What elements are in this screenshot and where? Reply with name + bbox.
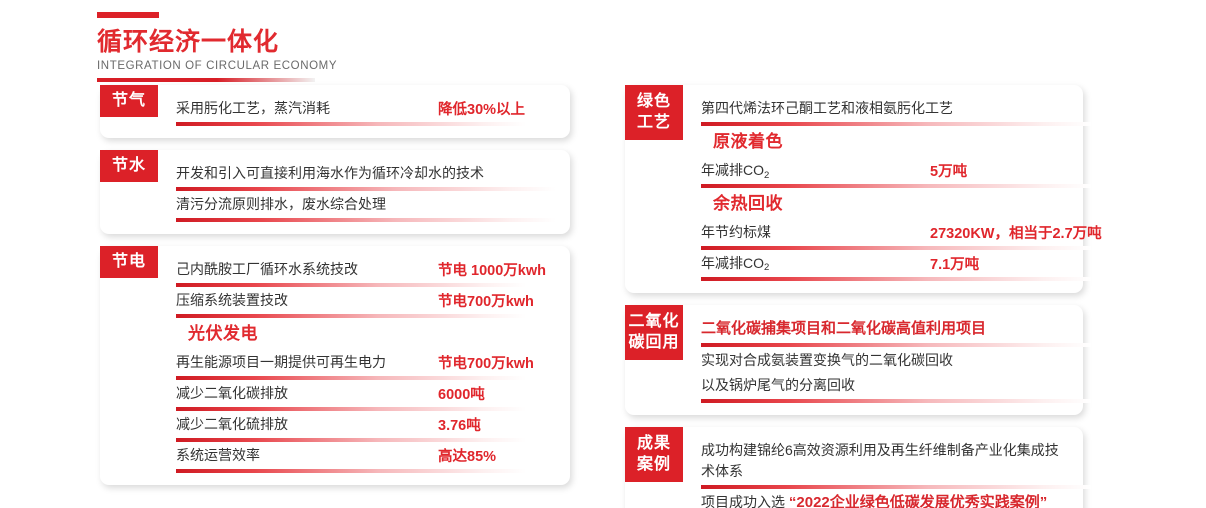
row-label: 压缩系统装置技改: [176, 290, 288, 311]
table-row: 开发和引入可直接利用海水作为循环冷却水的技术: [176, 160, 554, 191]
badge-label-co2-reuse: 二氧化 碳回用: [625, 305, 683, 360]
table-row: 己内酰胺工厂循环水系统技改 节电 1000万kwh: [176, 256, 554, 287]
header-accent-bar-top: [97, 12, 159, 18]
page-title: 循环经济一体化: [97, 27, 497, 58]
card-co2-reuse: 二氧化 碳回用 二氧化碳捕集项目和二氧化碳高值利用项目 实现对合成氨装置变换气的…: [625, 305, 1083, 415]
table-row: 第四代烯法环己酮工艺和液相氨肟化工艺: [701, 95, 1067, 126]
row-value: 节电 1000万kwh: [424, 259, 546, 280]
card-green-process: 绿色 工艺 第四代烯法环己酮工艺和液相氨肟化工艺 原液着色 年减排CO2 5万吨…: [625, 85, 1083, 293]
row-underline: [176, 469, 526, 473]
table-row: 年节约标煤 27320KW，相当于2.7万吨: [701, 219, 1067, 250]
row-value: 3.76吨: [424, 414, 481, 435]
row-label: 开发和引入可直接利用海水作为循环冷却水的技术: [176, 163, 484, 184]
table-row: 压缩系统装置技改 节电700万kwh: [176, 287, 554, 318]
row-label: 成功构建锦纶6高效资源利用及再生纤维制备产业化集成技术体系: [701, 440, 1067, 482]
row-label: 年减排CO2: [701, 253, 769, 274]
row-label: 年减排CO2: [701, 160, 769, 181]
badge-line: 碳回用: [625, 332, 683, 353]
table-row: 成功构建锦纶6高效资源利用及再生纤维制备产业化集成技术体系: [701, 437, 1067, 489]
row-label: 第四代烯法环己酮工艺和液相氨肟化工艺: [701, 98, 953, 119]
row-underline: [176, 314, 526, 318]
row-label: 清污分流原则排水，废水综合处理: [176, 194, 386, 215]
table-row: 减少二氧化碳排放 6000吨: [176, 380, 554, 411]
table-row: 减少二氧化硫排放 3.76吨: [176, 411, 554, 442]
right-column: 绿色 工艺 第四代烯法环己酮工艺和液相氨肟化工艺 原液着色 年减排CO2 5万吨…: [625, 85, 1083, 508]
card-body-water: 开发和引入可直接利用海水作为循环冷却水的技术 清污分流原则排水，废水综合处理: [100, 150, 570, 234]
card-energy-water: 节水 开发和引入可直接利用海水作为循环冷却水的技术 清污分流原则排水，废水综合处…: [100, 150, 570, 234]
row-underline: [701, 122, 1091, 126]
badge-line: 案例: [625, 454, 683, 475]
row-label: 己内酰胺工厂循环水系统技改: [176, 259, 358, 280]
section-heading-waste-heat: 余热回收: [701, 188, 1067, 219]
table-row: 年减排CO2 5万吨: [701, 157, 1067, 188]
row-underline: [176, 218, 556, 222]
row-value: 节电700万kwh: [424, 352, 534, 373]
card-energy-gas: 节气 采用肟化工艺，蒸汽消耗 降低30%以上: [100, 85, 570, 138]
row-value: 27320KW，相当于2.7万吨: [916, 222, 1102, 243]
table-row: 系统运营效率 高达85%: [176, 442, 554, 473]
table-row: 以及锅炉尾气的分离回收: [701, 372, 1067, 403]
row-label: 减少二氧化碳排放: [176, 383, 288, 404]
card-body-electricity: 己内酰胺工厂循环水系统技改 节电 1000万kwh 压缩系统装置技改 节电700…: [100, 246, 570, 485]
row-underline: [701, 184, 1091, 188]
badge-line: 绿色: [625, 91, 683, 112]
card-body-gas: 采用肟化工艺，蒸汽消耗 降低30%以上: [100, 85, 570, 138]
table-row: 采用肟化工艺，蒸汽消耗 降低30%以上: [176, 95, 554, 126]
subscript: 2: [764, 262, 769, 273]
badge-label-water: 节水: [100, 150, 158, 182]
table-row: 年减排CO2 7.1万吨: [701, 250, 1067, 281]
badge-label-green-process: 绿色 工艺: [625, 85, 683, 140]
card-body-achievements: 成功构建锦纶6高效资源利用及再生纤维制备产业化集成技术体系 项目成功入选 “20…: [625, 427, 1083, 508]
table-row: 清污分流原则排水，废水综合处理: [176, 191, 554, 222]
row-strong-label: 二氧化碳捕集项目和二氧化碳高值利用项目: [701, 318, 986, 341]
subscript: 2: [764, 170, 769, 181]
card-body-co2-reuse: 二氧化碳捕集项目和二氧化碳高值利用项目 实现对合成氨装置变换气的二氧化碳回收 以…: [625, 305, 1083, 415]
table-row: 项目成功入选 “2022企业绿色低碳发展优秀实践案例”: [701, 489, 1067, 508]
table-row: 再生能源项目一期提供可再生电力 节电700万kwh: [176, 349, 554, 380]
row-plain-text: 实现对合成氨装置变换气的二氧化碳回收: [701, 347, 1067, 372]
badge-label-achievements: 成果 案例: [625, 427, 683, 482]
header-accent-bar-bottom: [97, 78, 315, 82]
badge-label-electricity: 节电: [100, 246, 158, 278]
row-label: 系统运营效率: [176, 445, 260, 466]
row-value: 6000吨: [424, 383, 485, 404]
section-heading-dope-dyeing: 原液着色: [701, 126, 1067, 157]
row-label: 年节约标煤: [701, 222, 771, 243]
row-value: 7.1万吨: [916, 253, 979, 274]
row-value: 节电700万kwh: [424, 290, 534, 311]
row-value: 降低30%以上: [424, 98, 525, 119]
row-underline: [701, 277, 1091, 281]
row-label: 采用肟化工艺，蒸汽消耗: [176, 98, 330, 119]
card-energy-electricity: 节电 己内酰胺工厂循环水系统技改 节电 1000万kwh 压缩系统装置技改 节电…: [100, 246, 570, 485]
row-label: 项目成功入选 “2022企业绿色低碳发展优秀实践案例”: [701, 492, 1047, 508]
table-row: 二氧化碳捕集项目和二氧化碳高值利用项目: [701, 315, 1067, 348]
row-strong-suffix: “2022企业绿色低碳发展优秀实践案例”: [789, 494, 1047, 508]
row-underline: [176, 122, 526, 126]
page-subtitle: INTEGRATION OF CIRCULAR ECONOMY: [97, 60, 497, 72]
page-header: 循环经济一体化 INTEGRATION OF CIRCULAR ECONOMY: [97, 12, 497, 82]
badge-line: 成果: [625, 433, 683, 454]
row-label: 减少二氧化硫排放: [176, 414, 288, 435]
section-heading-solar: 光伏发电: [176, 318, 554, 349]
left-column: 节气 采用肟化工艺，蒸汽消耗 降低30%以上 节水 开发和引入可直接利用海水作为…: [100, 85, 570, 485]
card-achievements: 成果 案例 成功构建锦纶6高效资源利用及再生纤维制备产业化集成技术体系 项目成功…: [625, 427, 1083, 508]
row-underline: [701, 343, 1091, 347]
row-label: 再生能源项目一期提供可再生电力: [176, 352, 386, 373]
card-body-green-process: 第四代烯法环己酮工艺和液相氨肟化工艺 原液着色 年减排CO2 5万吨 余热回收 …: [625, 85, 1083, 293]
row-value: 高达85%: [424, 445, 496, 466]
row-label: 以及锅炉尾气的分离回收: [701, 375, 855, 396]
row-underline: [701, 399, 1091, 403]
row-value: 5万吨: [916, 160, 967, 181]
badge-line: 二氧化: [625, 311, 683, 332]
badge-label-gas: 节气: [100, 85, 158, 117]
badge-line: 工艺: [625, 112, 683, 133]
